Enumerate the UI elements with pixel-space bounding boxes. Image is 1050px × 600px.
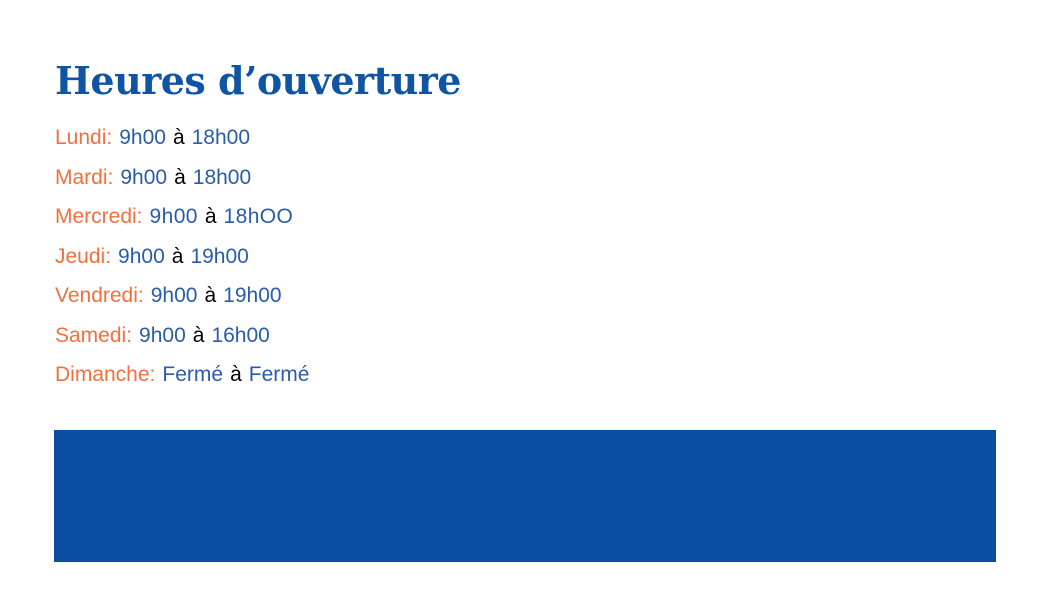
open-time-jeudi: 9h00: [118, 245, 165, 268]
close-time-samedi: 16h00: [211, 324, 269, 347]
open-time-dimanche: Fermé: [162, 363, 223, 386]
time-separator: à: [223, 355, 249, 395]
close-time-jeudi: 19h00: [190, 245, 248, 268]
page-root: Heures d’ouverture Lundi:9h00à18h00 Mard…: [0, 0, 1050, 600]
close-time-dimanche: Fermé: [249, 363, 310, 386]
day-label-vendredi: Vendredi:: [55, 284, 144, 307]
list-item: Dimanche:FerméàFermé: [55, 355, 1015, 395]
time-separator: à: [197, 276, 223, 316]
list-item: Mercredi:9h00à18hOO: [55, 197, 1015, 237]
time-separator: à: [198, 197, 224, 237]
open-time-samedi: 9h00: [139, 324, 186, 347]
list-item: Vendredi:9h00à19h00: [55, 276, 1015, 316]
day-label-dimanche: Dimanche:: [55, 363, 155, 386]
time-separator: à: [186, 316, 212, 356]
time-separator: à: [165, 237, 191, 277]
close-time-lundi: 18h00: [192, 126, 250, 149]
day-label-samedi: Samedi:: [55, 324, 132, 347]
day-label-mardi: Mardi:: [55, 166, 113, 189]
day-label-mercredi: Mercredi:: [55, 205, 143, 228]
close-time-vendredi: 19h00: [223, 284, 281, 307]
page-title: Heures d’ouverture: [55, 58, 1015, 104]
open-time-lundi: 9h00: [119, 126, 166, 149]
day-label-lundi: Lundi:: [55, 126, 112, 149]
list-item: Mardi:9h00à18h00: [55, 158, 1015, 198]
time-separator: à: [167, 158, 193, 198]
time-separator: à: [166, 118, 192, 158]
open-time-mardi: 9h00: [120, 166, 167, 189]
footer-banner-bar: [54, 430, 996, 562]
opening-hours-panel: Heures d’ouverture Lundi:9h00à18h00 Mard…: [55, 58, 1015, 395]
list-item: Samedi:9h00à16h00: [55, 316, 1015, 356]
close-time-mardi: 18h00: [193, 166, 251, 189]
opening-hours-list: Lundi:9h00à18h00 Mardi:9h00à18h00 Mercre…: [55, 118, 1015, 395]
list-item: Lundi:9h00à18h00: [55, 118, 1015, 158]
day-label-jeudi: Jeudi:: [55, 245, 111, 268]
close-time-mercredi: 18hOO: [224, 205, 294, 228]
open-time-mercredi: 9h00: [150, 205, 198, 228]
list-item: Jeudi:9h00à19h00: [55, 237, 1015, 277]
open-time-vendredi: 9h00: [151, 284, 198, 307]
